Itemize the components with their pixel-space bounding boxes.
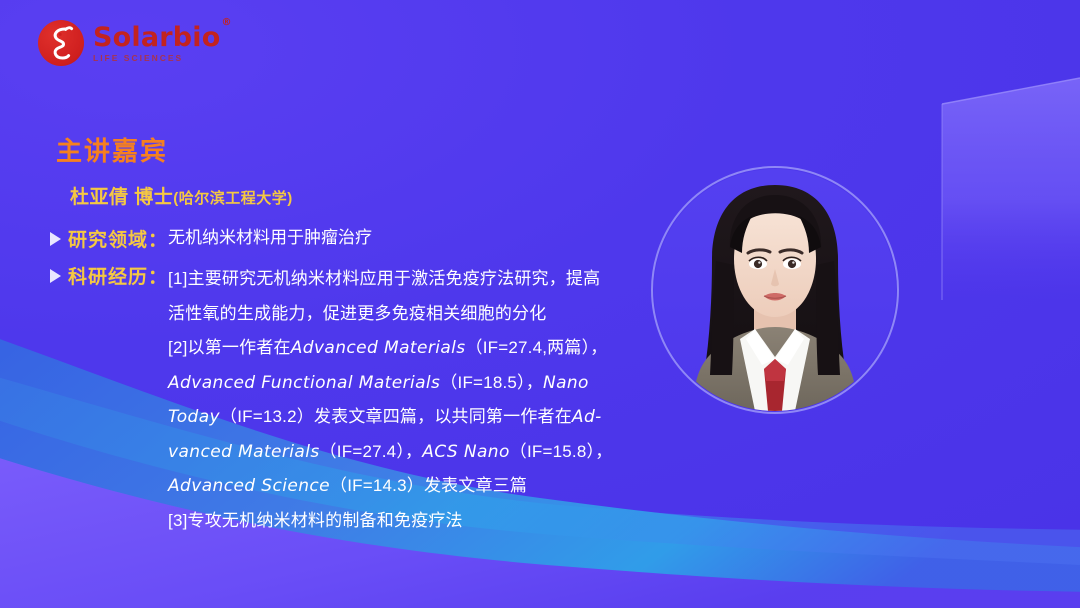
experience-text: （IF=13.2）发表文章四篇，以共同第一作者在: [220, 407, 572, 426]
speaker-name-line: 杜亚倩 博士(哈尔滨工程大学): [70, 182, 293, 209]
experience-text: （IF=14.3）发表文章三篇: [330, 476, 527, 495]
journal-name: vanced Materials: [168, 442, 320, 462]
journal-name: Today: [168, 407, 220, 427]
speaker-name: 杜亚倩 博士: [70, 187, 173, 208]
experience-text: [1]主要研究无机纳米材料应用于激活免疫疗法研究，提高: [168, 269, 600, 288]
portrait-ring: [651, 166, 899, 414]
experience-text: （IF=18.5），: [440, 373, 543, 392]
experience-line: 活性氧的生成能力，促进更多免疫相关细胞的分化: [168, 297, 668, 332]
journal-name: Nano: [543, 373, 589, 393]
main-content: 主讲嘉宾 杜亚倩 博士(哈尔滨工程大学) 研究领域： 无机纳米材料用于肿瘤治疗 …: [0, 0, 700, 608]
research-field-label: 研究领域：: [68, 225, 168, 252]
experience-text: （IF=15.8），: [510, 442, 613, 461]
research-experience-label: 科研经历：: [68, 262, 168, 289]
experience-line: [1]主要研究无机纳米材料应用于激活免疫疗法研究，提高: [168, 262, 668, 297]
experience-text: [2]以第一作者在: [168, 338, 291, 357]
experience-line: Advanced Functional Materials（IF=18.5），N…: [168, 366, 668, 401]
journal-name: Advanced Science: [168, 476, 330, 496]
vertical-name-plaque: 杜亚倩博士 哈尔滨工程大学: [900, 0, 1080, 608]
experience-line: Advanced Science（IF=14.3）发表文章三篇: [168, 469, 668, 504]
research-field-label-text: 研究领域: [68, 230, 148, 251]
experience-line: vanced Materials（IF=27.4），ACS Nano（IF=15…: [168, 435, 668, 470]
experience-text: （IF=27.4），: [320, 442, 423, 461]
speaker-affiliation: (哈尔滨工程大学): [173, 190, 293, 207]
experience-line: Today（IF=13.2）发表文章四篇，以共同第一作者在Ad-: [168, 400, 668, 435]
research-experience-label-text: 科研经历: [68, 267, 148, 288]
section-title: 主讲嘉宾: [56, 131, 168, 168]
triangle-right-icon: [50, 269, 61, 283]
experience-text: [3]专攻无机纳米材料的制备和免疫疗法: [168, 511, 463, 530]
research-field-row: 研究领域： 无机纳米材料用于肿瘤治疗: [50, 225, 372, 252]
label-colon: ：: [148, 267, 168, 288]
journal-name: Advanced Functional Materials: [168, 373, 440, 393]
journal-name: Ad-: [572, 407, 602, 427]
journal-name: ACS Nano: [422, 442, 510, 462]
experience-line: [3]专攻无机纳米材料的制备和免疫疗法: [168, 504, 668, 539]
journal-name: Advanced Materials: [291, 338, 466, 358]
triangle-right-icon: [50, 232, 61, 246]
experience-text: （IF=27.4,两篇），: [466, 338, 608, 357]
research-experience-body: [1]主要研究无机纳米材料应用于激活免疫疗法研究，提高活性氧的生成能力，促进更多…: [168, 262, 668, 538]
label-colon: ：: [148, 230, 168, 251]
research-experience-row: 科研经历： [1]主要研究无机纳米材料应用于激活免疫疗法研究，提高活性氧的生成能…: [50, 262, 668, 538]
speaker-portrait: [651, 166, 899, 414]
presentation-slide: Solarbio® LIFE SCIENCES 主讲嘉宾 杜亚倩 博士(哈尔滨工…: [0, 0, 1080, 608]
experience-text: 活性氧的生成能力，促进更多免疫相关细胞的分化: [168, 304, 546, 323]
experience-line: [2]以第一作者在Advanced Materials（IF=27.4,两篇），: [168, 331, 668, 366]
research-field-value: 无机纳米材料用于肿瘤治疗: [168, 225, 372, 251]
